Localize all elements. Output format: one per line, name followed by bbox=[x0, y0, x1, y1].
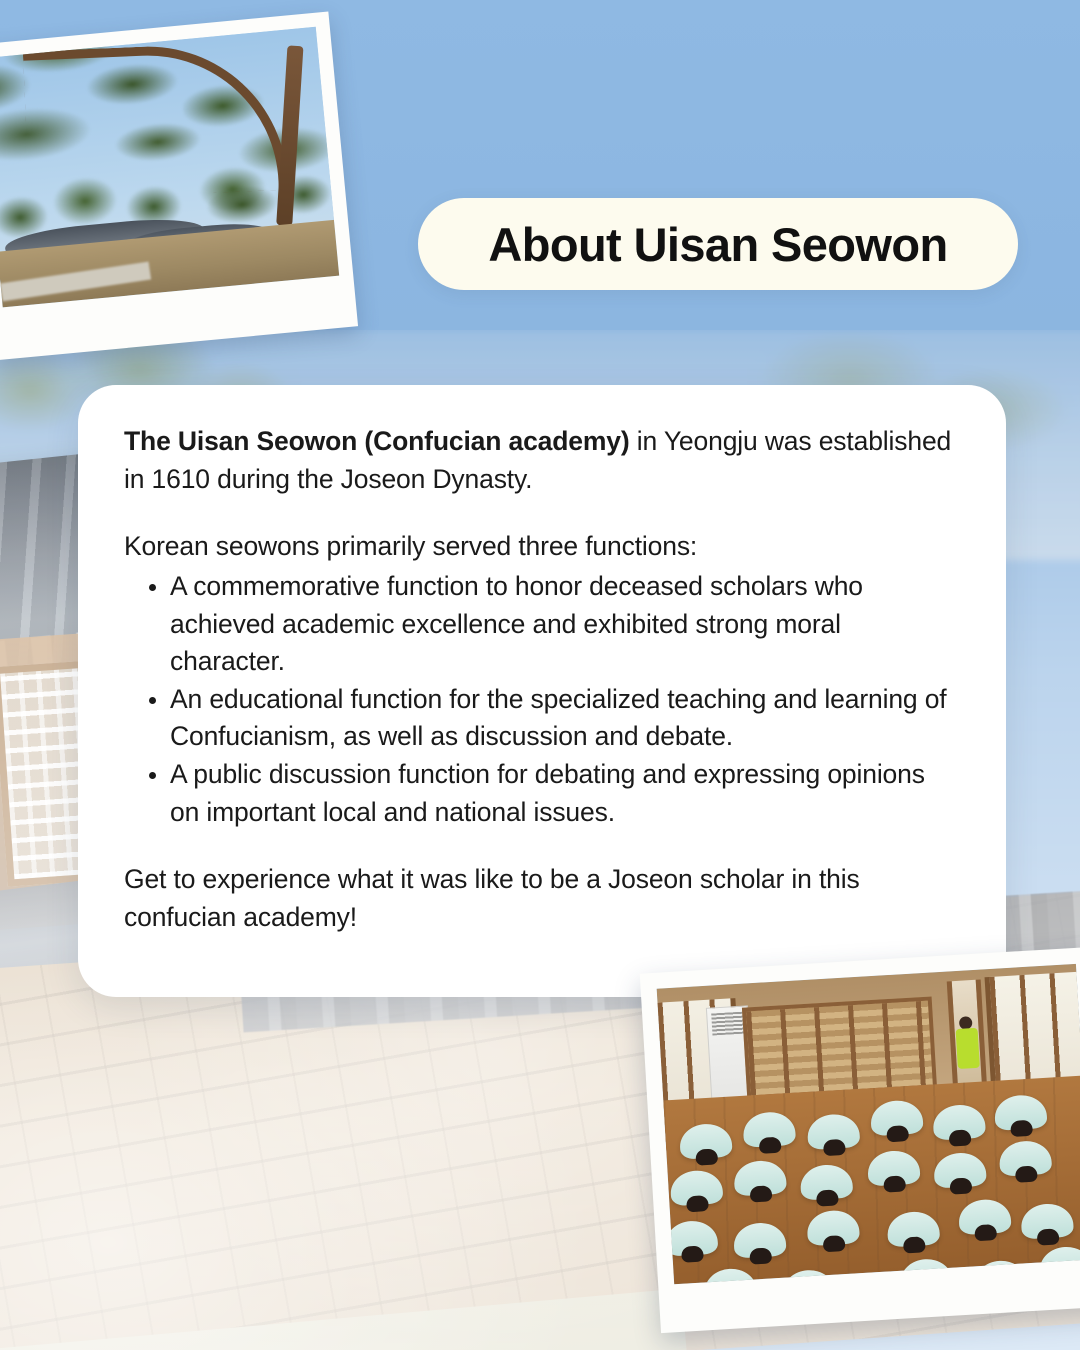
photo-bowing-student bbox=[742, 1111, 796, 1148]
photo-bowing-student bbox=[1020, 1202, 1074, 1239]
photo-lattice-doors bbox=[742, 996, 937, 1099]
functions-list: A commemorative function to honor deceas… bbox=[124, 568, 960, 831]
paragraph-spacer bbox=[124, 498, 960, 528]
polaroid-photo-seowon-exterior bbox=[0, 11, 358, 360]
lead-bold-text: The Uisan Seowon (Confucian academy) bbox=[124, 426, 630, 456]
photo-bowing-students bbox=[657, 964, 1080, 1284]
photo-bowing-student bbox=[958, 1198, 1012, 1235]
photo-bowing-student bbox=[733, 1222, 787, 1259]
list-item: An educational function for the speciali… bbox=[170, 681, 960, 756]
photo-bowing-student bbox=[733, 1159, 787, 1196]
photo-seowon-exterior bbox=[0, 27, 339, 308]
photo-bowing-student bbox=[867, 1149, 921, 1186]
photo-bowing-student bbox=[973, 1259, 1027, 1284]
photo-wooden-floor bbox=[663, 1076, 1080, 1285]
list-item: A public discussion function for debatin… bbox=[170, 756, 960, 831]
photo-bowing-student bbox=[679, 1123, 733, 1160]
paragraph-spacer bbox=[124, 831, 960, 861]
photo-bowing-student bbox=[806, 1209, 860, 1246]
lead-paragraph: The Uisan Seowon (Confucian academy) in … bbox=[124, 423, 960, 498]
page-title: About Uisan Seowon bbox=[488, 217, 947, 272]
functions-intro: Korean seowons primarily served three fu… bbox=[124, 528, 960, 566]
photo-bowing-student bbox=[994, 1094, 1048, 1131]
photo-bowing-student bbox=[933, 1152, 987, 1189]
photo-person-jacket bbox=[956, 1028, 980, 1069]
poster-canvas: About Uisan Seowon The Uisan Seowon (Con… bbox=[0, 0, 1080, 1350]
list-item: A commemorative function to honor deceas… bbox=[170, 568, 960, 681]
photo-bowing-student bbox=[932, 1104, 986, 1141]
polaroid-photo-bowing-students bbox=[640, 947, 1080, 1333]
photo-bowing-student bbox=[782, 1269, 836, 1284]
photo-bowing-student bbox=[799, 1164, 853, 1201]
photo-bowing-student bbox=[1039, 1245, 1080, 1282]
photo-bowing-student bbox=[870, 1099, 924, 1136]
photo-bowing-student bbox=[665, 1220, 719, 1257]
photo-bowing-student bbox=[806, 1113, 860, 1150]
closing-paragraph: Get to experience what it was like to be… bbox=[124, 861, 960, 936]
photo-bowing-student bbox=[886, 1210, 940, 1247]
description-card: The Uisan Seowon (Confucian academy) in … bbox=[78, 385, 1006, 997]
photo-standing-person bbox=[955, 1016, 981, 1091]
photo-bowing-student bbox=[703, 1267, 757, 1284]
photo-bowing-student bbox=[899, 1258, 953, 1284]
page-title-pill: About Uisan Seowon bbox=[418, 198, 1018, 290]
photo-bowing-student bbox=[998, 1140, 1052, 1177]
photo-bowing-student bbox=[670, 1169, 724, 1206]
